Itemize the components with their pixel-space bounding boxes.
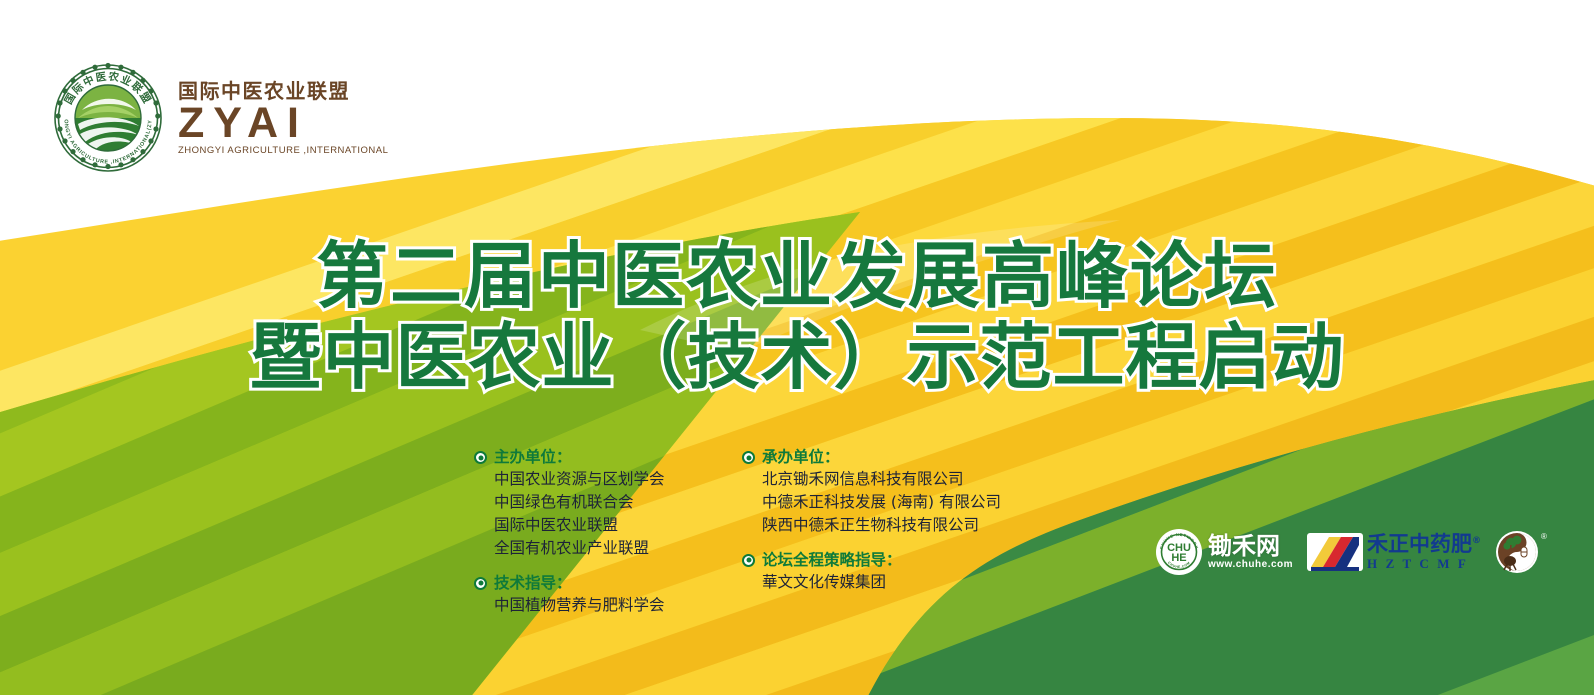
hzt-ribbon-icon bbox=[1307, 533, 1363, 571]
bullet-icon bbox=[474, 577, 487, 590]
hzt-name-en: H Z T C M F bbox=[1367, 557, 1481, 570]
credits-column-right: 承办单位： 北京锄禾网信息科技有限公司 中德禾正科技发展 (海南) 有限公司 陕… bbox=[742, 448, 1010, 631]
credit-group-co-organizers: 承办单位： 北京锄禾网信息科技有限公司 中德禾正科技发展 (海南) 有限公司 陕… bbox=[742, 448, 1010, 537]
credits-block: 主办单位： 中国农业资源与区划学会 中国绿色有机联合会 国际中医农业联盟 全国有… bbox=[474, 448, 1010, 631]
hzt-name-cn: 禾正中药肥® bbox=[1367, 534, 1481, 555]
credit-heading-label: 主办单位： bbox=[494, 448, 572, 467]
list-item: 華文文化传媒集团 bbox=[762, 571, 1010, 594]
list-item: 全国有机农业产业联盟 bbox=[494, 537, 742, 560]
zyai-org-cn: 国际中医农业联盟 bbox=[178, 81, 388, 101]
zyai-org-en: ZHONGYI AGRICULTURE ,INTERNATIONAL bbox=[178, 146, 388, 156]
sponsor-hzt: 禾正中药肥® H Z T C M F bbox=[1307, 533, 1481, 571]
list-item: 中国绿色有机联合会 bbox=[494, 491, 742, 514]
list-item: 中国农业资源与区划学会 bbox=[494, 468, 742, 491]
chuhe-text: 锄禾网 www.chuhe.com bbox=[1208, 534, 1293, 570]
bullet-icon bbox=[742, 451, 755, 464]
credit-heading: 主办单位： bbox=[474, 448, 742, 467]
svg-text:HE: HE bbox=[1171, 552, 1186, 564]
list-item: 陕西中德禾正生物科技有限公司 bbox=[762, 514, 1010, 537]
list-item: 国际中医农业联盟 bbox=[494, 514, 742, 537]
list-item: 中国植物营养与肥料学会 bbox=[494, 594, 742, 617]
sponsor-tree-emblem: ® bbox=[1495, 530, 1547, 574]
zyai-abbr: ZYAI bbox=[178, 103, 388, 144]
hzt-registered-mark: ® bbox=[1472, 536, 1481, 546]
credit-heading: 承办单位： bbox=[742, 448, 1010, 467]
tree-emblem-registered-mark: ® bbox=[1541, 532, 1547, 541]
conference-banner: 国际中医农业联盟 ZHONGYI AGRICULTURE ,INTERNATIO… bbox=[0, 0, 1594, 695]
zyai-logo-text: 国际中医农业联盟 ZYAI ZHONGYI AGRICULTURE ,INTER… bbox=[178, 81, 388, 155]
chuhe-url: www.chuhe.com bbox=[1208, 560, 1293, 570]
credit-heading: 论坛全程策略指导： bbox=[742, 551, 1010, 570]
credit-heading-label: 承办单位： bbox=[762, 448, 840, 467]
zyai-logo-lockup: 国际中医农业联盟 ZHONGYI AGRICULTURE ,INTERNATIO… bbox=[52, 62, 388, 174]
chuhe-circle-icon: CHUHE NETWORK CHUHE.COM CHU HE bbox=[1155, 528, 1203, 576]
zyai-seal-icon: 国际中医农业联盟 ZHONGYI AGRICULTURE ,INTERNATIO… bbox=[52, 62, 164, 174]
tree-roots-circle-icon bbox=[1495, 530, 1539, 574]
hzt-name-cn-label: 禾正中药肥 bbox=[1367, 532, 1472, 556]
sponsor-chuhe: CHUHE NETWORK CHUHE.COM CHU HE 锄禾网 www.c… bbox=[1155, 528, 1293, 576]
credit-group-strategy-guidance: 论坛全程策略指导： 華文文化传媒集团 bbox=[742, 551, 1010, 594]
credit-group-organizers: 主办单位： 中国农业资源与区划学会 中国绿色有机联合会 国际中医农业联盟 全国有… bbox=[474, 448, 742, 560]
bullet-icon bbox=[742, 554, 755, 567]
credit-item-list: 中国农业资源与区划学会 中国绿色有机联合会 国际中医农业联盟 全国有机农业产业联… bbox=[494, 468, 742, 559]
credits-column-left: 主办单位： 中国农业资源与区划学会 中国绿色有机联合会 国际中医农业联盟 全国有… bbox=[474, 448, 742, 631]
credit-heading: 技术指导： bbox=[474, 574, 742, 593]
sponsor-logo-row: CHUHE NETWORK CHUHE.COM CHU HE 锄禾网 www.c… bbox=[1155, 528, 1547, 576]
list-item: 中德禾正科技发展 (海南) 有限公司 bbox=[762, 491, 1010, 514]
list-item: 北京锄禾网信息科技有限公司 bbox=[762, 468, 1010, 491]
hzt-text: 禾正中药肥® H Z T C M F bbox=[1367, 534, 1481, 570]
credit-group-tech-guidance: 技术指导： 中国植物营养与肥料学会 bbox=[474, 574, 742, 617]
credit-heading-label: 技术指导： bbox=[494, 574, 572, 593]
bullet-icon bbox=[474, 451, 487, 464]
credit-item-list: 北京锄禾网信息科技有限公司 中德禾正科技发展 (海南) 有限公司 陕西中德禾正生… bbox=[762, 468, 1010, 536]
credit-heading-label: 论坛全程策略指导： bbox=[762, 551, 902, 570]
chuhe-name-cn: 锄禾网 bbox=[1208, 534, 1293, 558]
credit-item-list: 華文文化传媒集团 bbox=[762, 571, 1010, 594]
credit-item-list: 中国植物营养与肥料学会 bbox=[494, 594, 742, 617]
